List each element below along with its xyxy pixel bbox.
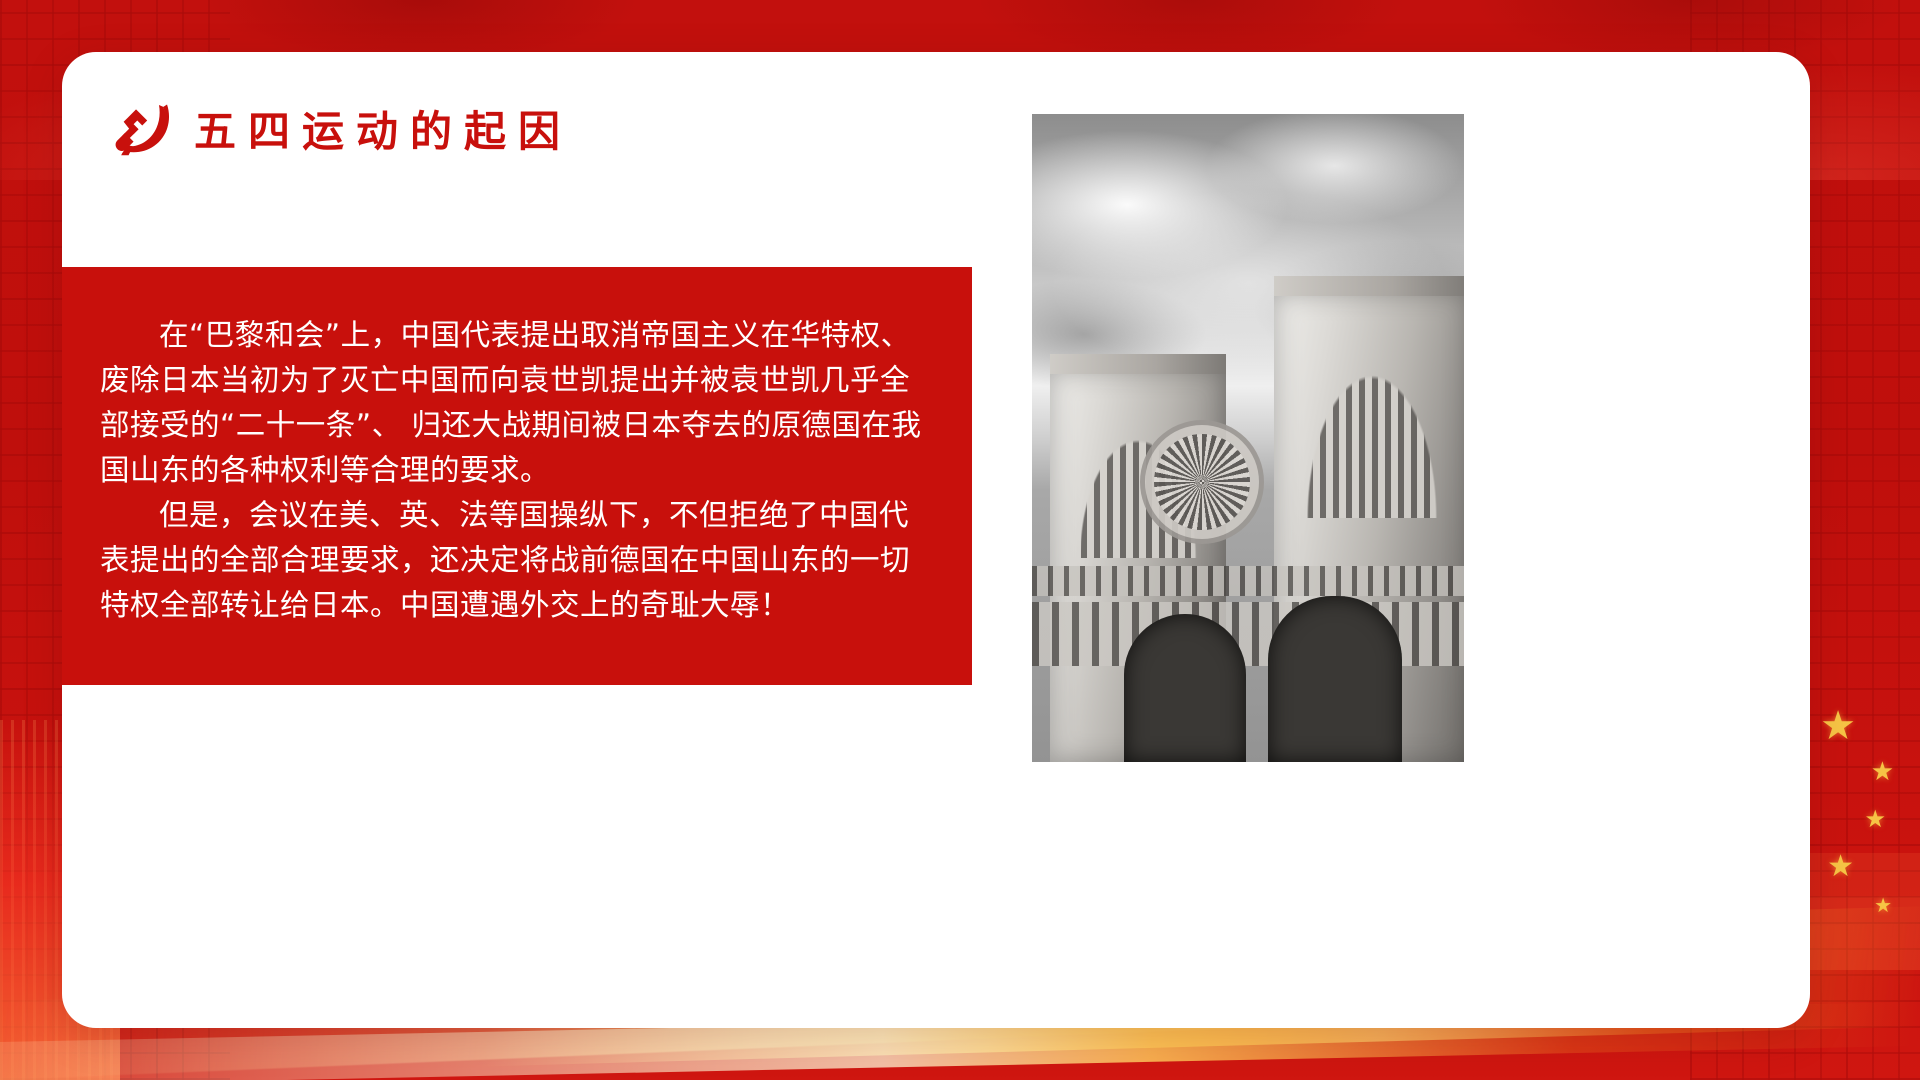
cathedral-portal (1124, 614, 1246, 762)
cathedral-structure (1032, 292, 1464, 762)
cathedral-photo (1032, 114, 1464, 762)
content-card: 五四运动的起因 在“巴黎和会”上，中国代表提出取消帝国主义在华特权、废除日本当初… (62, 52, 1810, 1028)
paragraph-2: 但是，会议在美、英、法等国操纵下，不但拒绝了中国代表提出的全部合理要求，还决定将… (100, 493, 928, 628)
tower-cap (1050, 354, 1226, 374)
rose-window (1154, 434, 1250, 530)
tower-louvre (1294, 320, 1451, 517)
cathedral-portal (1268, 596, 1402, 762)
body-text-panel: 在“巴黎和会”上，中国代表提出取消帝国主义在华特权、废除日本当初为了灭亡中国而向… (62, 267, 972, 685)
slide-root: ★ ★ ★ ★ ★ 五四运动的起因 在“巴黎和会”上，中国代表提出取消帝国主义在 (0, 0, 1920, 1080)
tower-cap (1274, 276, 1464, 296)
paragraph-1: 在“巴黎和会”上，中国代表提出取消帝国主义在华特权、废除日本当初为了灭亡中国而向… (100, 313, 928, 493)
page-title: 五四运动的起因 (194, 98, 572, 159)
kings-gallery (1032, 566, 1464, 596)
star-icon: ★ (1827, 852, 1854, 882)
star-icon: ★ (1864, 808, 1886, 832)
star-icon: ★ (1871, 758, 1894, 784)
hammer-sickle-party-emblem-icon (110, 97, 172, 159)
gold-stars-group: ★ ★ ★ ★ ★ (1812, 700, 1902, 930)
star-icon: ★ (1820, 706, 1856, 746)
slide-header: 五四运动的起因 (110, 97, 572, 159)
